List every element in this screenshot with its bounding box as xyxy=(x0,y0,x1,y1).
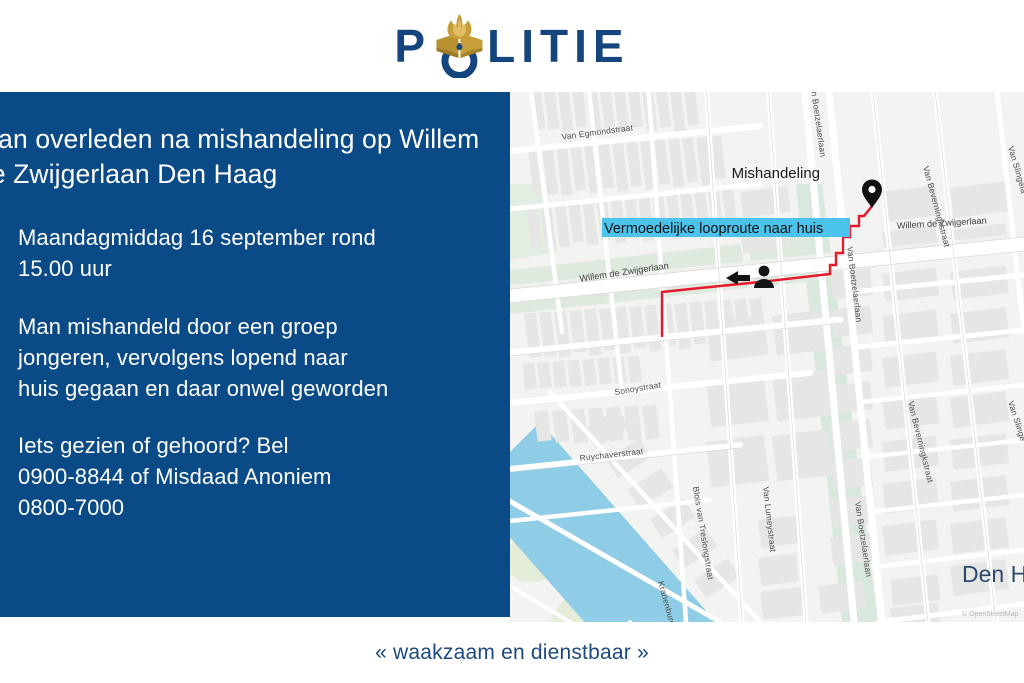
logo-text-p: P xyxy=(394,23,431,69)
detail-paragraph-time: Maandagmiddag 16 september rond 15.00 uu… xyxy=(18,222,492,284)
incident-map[interactable]: Van Egmondstraat Willem de Zwijgerlaan W… xyxy=(510,92,1024,622)
route-label-text: Vermoedelijke looproute naar huis xyxy=(604,221,823,237)
politie-logo: P LITIE xyxy=(394,14,629,78)
info-panel: Man overleden na mishandeling op Willem … xyxy=(0,92,510,617)
incident-marker-label: Mishandeling xyxy=(732,165,820,182)
map-pin-dot xyxy=(868,186,875,193)
logo-text-litie: LITIE xyxy=(487,23,629,69)
map-attribution: © OpenStreetMap xyxy=(962,610,1019,618)
info-panel-content: Man overleden na mishandeling op Willem … xyxy=(0,122,510,523)
detail-paragraph-contact: Iets gezien of gehoord? Bel 0900-8844 of… xyxy=(18,430,492,523)
footer-tagline: « waakzaam en dienstbaar » xyxy=(375,641,649,665)
politie-flame-book-emblem xyxy=(433,14,485,78)
page-footer: « waakzaam en dienstbaar » xyxy=(0,622,1024,683)
detail-paragraph-description: Man mishandeld door een groep jongeren, … xyxy=(18,311,492,404)
headline: Man overleden na mishandeling op Willem … xyxy=(0,122,492,192)
page-header: P LITIE xyxy=(0,0,1024,92)
city-label: Den H xyxy=(962,561,1024,587)
route-label-group: Vermoedelijke looproute naar huis xyxy=(602,218,850,237)
